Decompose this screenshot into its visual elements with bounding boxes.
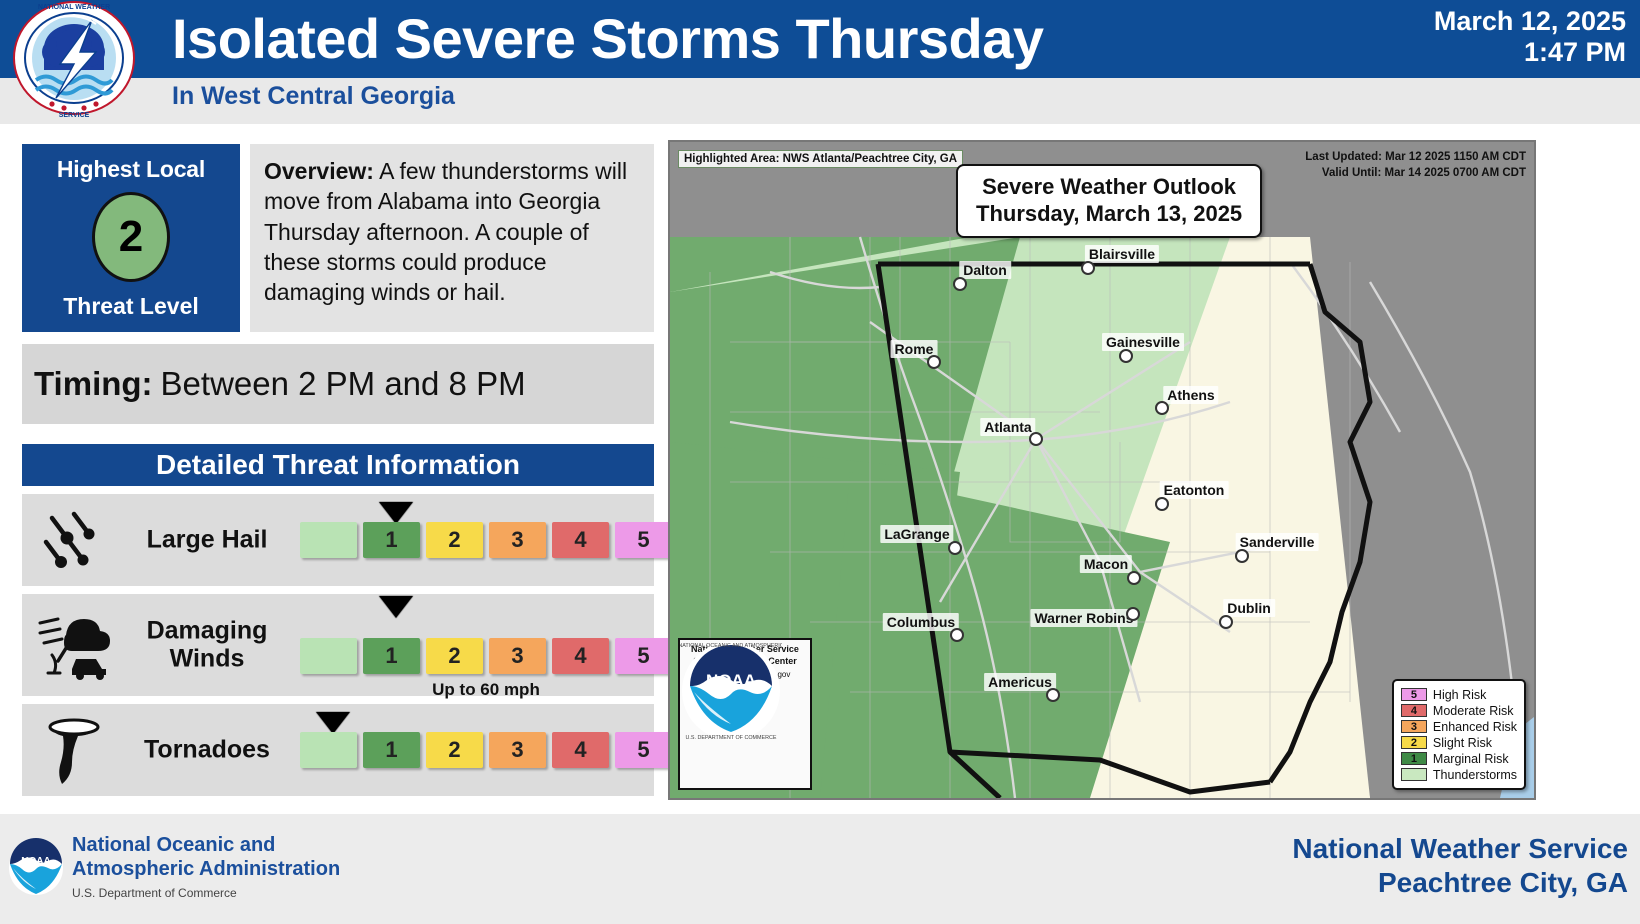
scale-box-1: 1 xyxy=(363,732,420,768)
legend-label: Thunderstorms xyxy=(1433,768,1517,782)
severe-weather-outlook-map[interactable]: Highlighted Area: NWS Atlanta/Peachtree … xyxy=(668,140,1536,800)
legend-swatch xyxy=(1401,768,1427,781)
spc-credit-box: NOAA NATIONAL OCEANIC AND ATMOSPHERIC U.… xyxy=(678,638,812,790)
detailed-threat-header: Detailed Threat Information xyxy=(22,444,654,486)
scale-box-3: 3 xyxy=(489,732,546,768)
legend-label: Moderate Risk xyxy=(1433,704,1514,718)
scale-box-1: 1 xyxy=(363,522,420,558)
scale-box-0 xyxy=(300,638,357,674)
svg-text:NOAA: NOAA xyxy=(21,856,50,867)
svg-text:NATIONAL WEATHER: NATIONAL WEATHER xyxy=(38,4,110,11)
left-panel: Highest Local 2 Threat Level Overview: A… xyxy=(0,132,668,812)
scale-box-5: 5 xyxy=(615,522,672,558)
valid-until-text: Valid Until: Mar 14 2025 0700 AM CDT xyxy=(1305,166,1526,182)
city-label: Blairsville xyxy=(1085,245,1159,263)
city-marker xyxy=(1126,607,1140,621)
scale-box-4: 4 xyxy=(552,732,609,768)
svg-text:NOAA: NOAA xyxy=(706,671,756,690)
highest-threat-level-box: Highest Local 2 Threat Level xyxy=(22,144,240,332)
city-marker xyxy=(1155,401,1169,415)
legend-swatch: 1 xyxy=(1401,752,1427,765)
legend-row: 4Moderate Risk xyxy=(1401,703,1517,718)
city-label: Dalton xyxy=(959,261,1011,279)
threat-label-damaging-winds: Damaging Winds xyxy=(118,618,296,673)
city-label: Dublin xyxy=(1223,599,1275,617)
city-label: Athens xyxy=(1163,386,1218,404)
map-title-box: Severe Weather Outlook Thursday, March 1… xyxy=(956,164,1262,238)
issuance-stamp: March 12, 2025 1:47 PM xyxy=(1434,6,1626,69)
hail-icon xyxy=(38,504,116,576)
scale-box-5: 5 xyxy=(615,732,672,768)
legend-swatch: 2 xyxy=(1401,736,1427,749)
city-marker xyxy=(1081,261,1095,275)
noaa-logo: NOAA xyxy=(8,828,64,908)
city-label: Americus xyxy=(984,673,1056,691)
scale-box-5: 5 xyxy=(615,638,672,674)
scale-box-4: 4 xyxy=(552,522,609,558)
city-marker xyxy=(1119,349,1133,363)
threat-bottom-label: Threat Level xyxy=(22,293,240,320)
footer-agency-line2: Atmospheric Administration xyxy=(72,858,340,882)
threat-scale-damaging-winds: 1 2 3 4 5 xyxy=(300,638,672,674)
legend-label: Slight Risk xyxy=(1433,736,1492,750)
city-label: Eatonton xyxy=(1160,481,1229,499)
legend-label: Enhanced Risk xyxy=(1433,720,1517,734)
city-marker xyxy=(1219,615,1233,629)
legend-row: 5High Risk xyxy=(1401,687,1517,702)
threat-label-large-hail: Large Hail xyxy=(118,526,296,554)
damaging-winds-icon xyxy=(38,609,116,681)
legend-row: 3Enhanced Risk xyxy=(1401,719,1517,734)
overview-label: Overview: xyxy=(264,158,374,184)
city-label: Columbus xyxy=(883,613,959,631)
legend-row: 2Slight Risk xyxy=(1401,735,1517,750)
city-label: Macon xyxy=(1080,555,1132,573)
scale-box-2: 2 xyxy=(426,732,483,768)
city-label: Warner Robins xyxy=(1030,609,1137,627)
last-updated-text: Last Updated: Mar 12 2025 1150 AM CDT xyxy=(1305,150,1526,166)
threat-scale-large-hail: 1 2 3 4 5 xyxy=(300,522,672,558)
scale-box-1: 1 xyxy=(363,638,420,674)
issuance-time: 1:47 PM xyxy=(1434,37,1626,68)
city-marker xyxy=(948,541,962,555)
page-title: Isolated Severe Storms Thursday xyxy=(172,6,1044,71)
tornado-icon xyxy=(38,714,116,786)
overview-box: Overview: A few thunderstorms will move … xyxy=(250,144,654,332)
footer-agency-text: National Oceanic and Atmospheric Adminis… xyxy=(72,834,340,900)
highlighted-area-label: Highlighted Area: NWS Atlanta/Peachtree … xyxy=(678,150,963,168)
footer-agency-line1: National Oceanic and xyxy=(72,834,340,858)
map-title-line2: Thursday, March 13, 2025 xyxy=(976,201,1242,228)
page-header: NATIONAL WEATHER SERVICE Isolated Severe… xyxy=(0,0,1640,124)
svg-text:SERVICE: SERVICE xyxy=(59,112,90,119)
city-label: Atlanta xyxy=(980,418,1035,436)
legend-label: High Risk xyxy=(1433,688,1487,702)
city-marker xyxy=(1235,549,1249,563)
timing-value: Between 2 PM and 8 PM xyxy=(161,365,526,403)
threat-label-tornadoes: Tornadoes xyxy=(118,736,296,764)
threat-row-damaging-winds: Damaging Winds 1 2 3 4 5 Up to 60 mph xyxy=(22,594,654,696)
svg-text:U.S. DEPARTMENT OF COMMERCE: U.S. DEPARTMENT OF COMMERCE xyxy=(685,735,776,741)
map-timestamps: Last Updated: Mar 12 2025 1150 AM CDT Va… xyxy=(1305,150,1526,181)
scale-box-2: 2 xyxy=(426,638,483,674)
threat-top-label: Highest Local xyxy=(22,144,240,183)
nws-logo: NATIONAL WEATHER SERVICE xyxy=(4,0,144,120)
city-label: Gainesville xyxy=(1102,333,1184,351)
issuance-date: March 12, 2025 xyxy=(1434,6,1626,37)
svg-text:NATIONAL OCEANIC AND ATMOSPHER: NATIONAL OCEANIC AND ATMOSPHERIC xyxy=(680,643,782,649)
footer-office: National Weather Service Peachtree City,… xyxy=(1292,832,1628,899)
map-risk-legend: 5High Risk4Moderate Risk3Enhanced Risk2S… xyxy=(1392,679,1526,790)
legend-swatch: 4 xyxy=(1401,704,1427,717)
legend-row: 1Marginal Risk xyxy=(1401,751,1517,766)
city-marker xyxy=(1029,432,1043,446)
footer-department: U.S. Department of Commerce xyxy=(72,886,340,900)
city-marker xyxy=(927,355,941,369)
city-label: LaGrange xyxy=(880,525,953,543)
threat-summary-row: Highest Local 2 Threat Level Overview: A… xyxy=(22,144,654,332)
city-marker xyxy=(1127,571,1141,585)
scale-box-0 xyxy=(300,732,357,768)
scale-box-0 xyxy=(300,522,357,558)
scale-box-3: 3 xyxy=(489,638,546,674)
city-label: Sanderville xyxy=(1236,533,1319,551)
legend-swatch: 3 xyxy=(1401,720,1427,733)
timing-box: Timing:Between 2 PM and 8 PM xyxy=(22,344,654,424)
footer-office-line1: National Weather Service xyxy=(1292,832,1628,866)
legend-label: Marginal Risk xyxy=(1433,752,1509,766)
footer-office-line2: Peachtree City, GA xyxy=(1292,866,1628,900)
threat-row-tornadoes: Tornadoes 1 2 3 4 5 xyxy=(22,704,654,796)
page-footer: NOAA National Oceanic and Atmospheric Ad… xyxy=(0,814,1640,924)
scale-box-2: 2 xyxy=(426,522,483,558)
city-marker xyxy=(1155,497,1169,511)
map-title-line1: Severe Weather Outlook xyxy=(976,174,1242,201)
legend-row: Thunderstorms xyxy=(1401,767,1517,782)
scale-box-3: 3 xyxy=(489,522,546,558)
legend-swatch: 5 xyxy=(1401,688,1427,701)
scale-box-4: 4 xyxy=(552,638,609,674)
city-marker xyxy=(1046,688,1060,702)
threat-scale-tornadoes: 1 2 3 4 5 xyxy=(300,732,672,768)
page-subtitle: In West Central Georgia xyxy=(172,82,455,111)
threat-note-damaging-winds: Up to 60 mph xyxy=(300,680,672,700)
city-marker xyxy=(950,628,964,642)
threat-row-large-hail: Large Hail 1 2 3 4 5 xyxy=(22,494,654,586)
threat-level-value: 2 xyxy=(92,192,170,282)
city-marker xyxy=(953,277,967,291)
timing-label: Timing: xyxy=(34,365,153,403)
